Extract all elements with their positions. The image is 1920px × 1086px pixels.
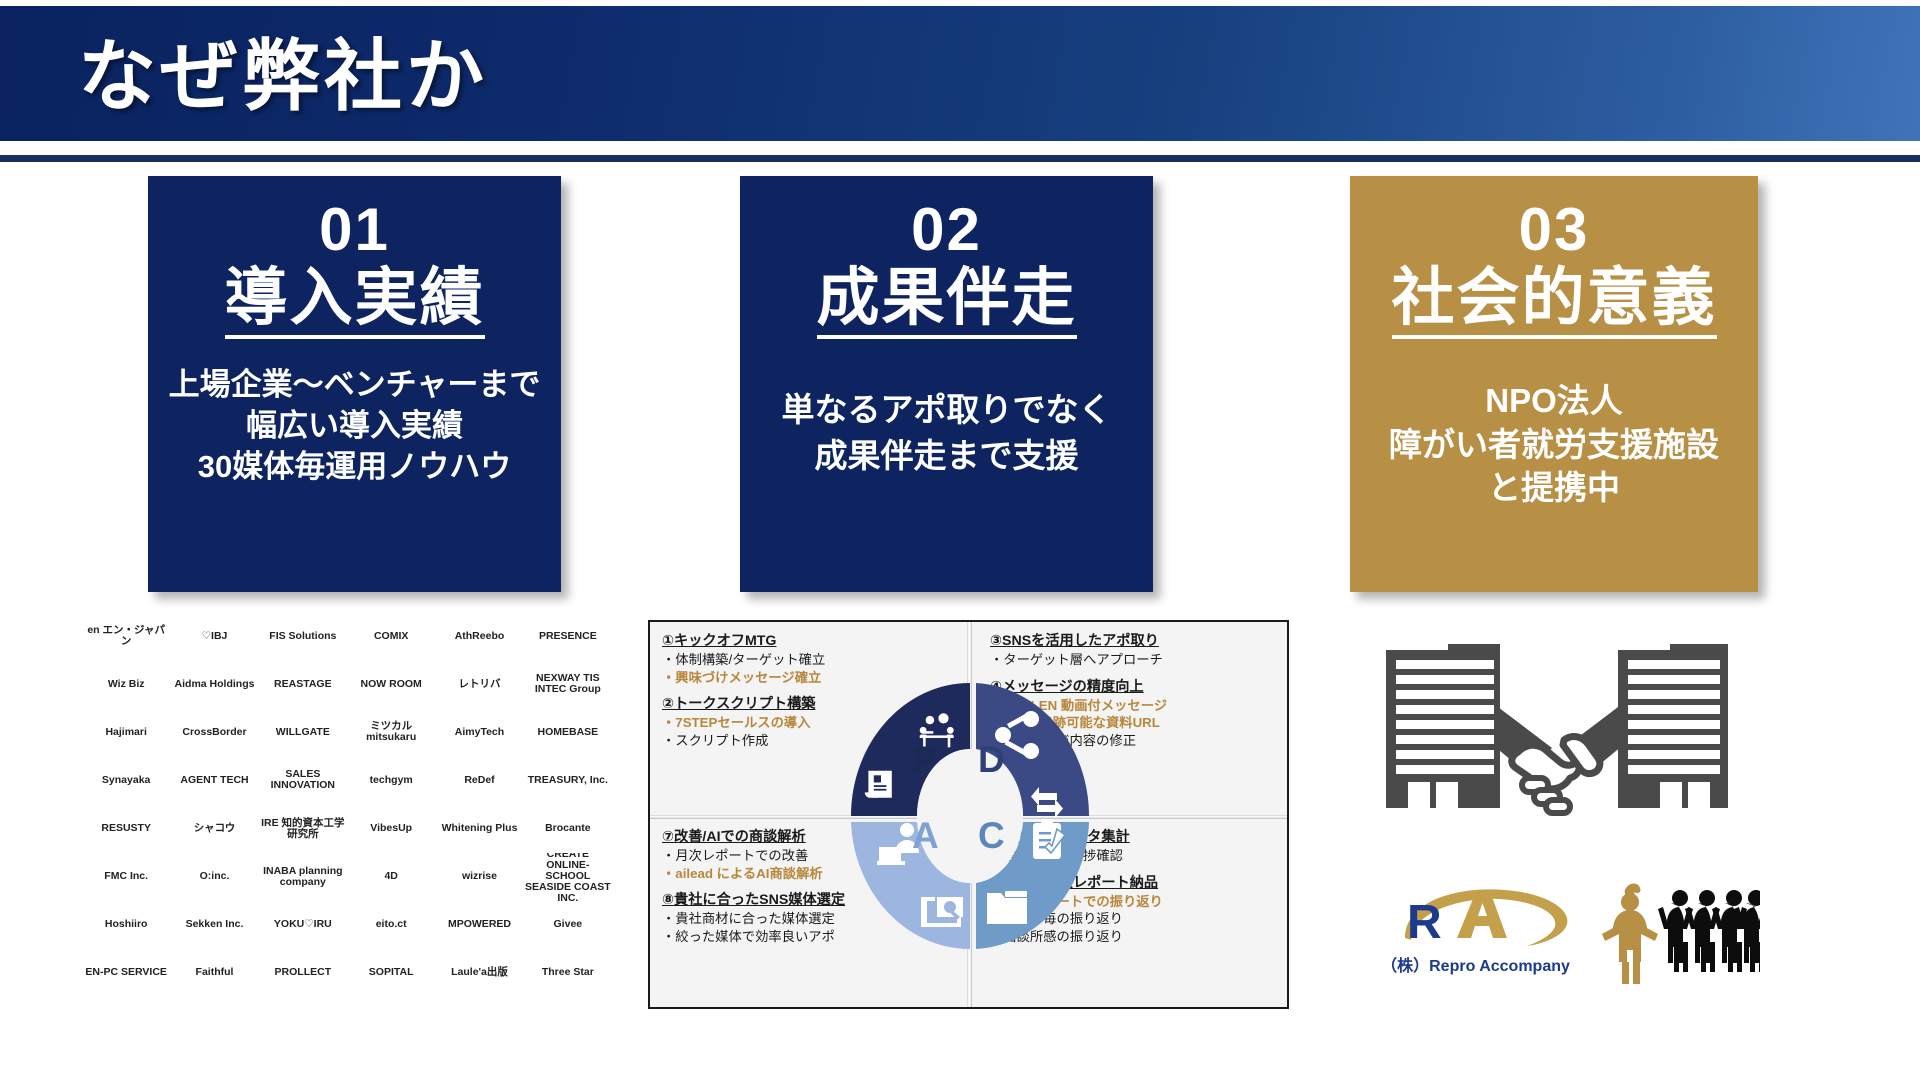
client-logo: Hoshiiro	[82, 901, 170, 949]
client-logo: ReDef	[435, 756, 523, 804]
client-logo: 4D	[347, 853, 435, 901]
company-name-caption: （株）Repro Accompany	[1368, 952, 1583, 976]
client-logo: ミツカル mitsukaru	[347, 708, 435, 756]
pdca-step-item: ・ターゲット層へアプローチ	[990, 651, 1280, 668]
client-logo: RESUSTY	[82, 805, 170, 853]
pdca-step-heading: ①キックオフMTG	[662, 632, 962, 650]
client-logo: Sekken Inc.	[170, 901, 258, 949]
client-logo: IRE 知的資本工学研究所	[259, 805, 347, 853]
client-logo: Three Star	[524, 949, 612, 997]
client-logo: NEXWAY TIS INTEC Group	[524, 660, 612, 708]
client-logo: Faithful	[170, 949, 258, 997]
client-logo: FIS Solutions	[259, 612, 347, 660]
client-logo: Givee	[524, 901, 612, 949]
page-title: なぜ弊社か	[78, 14, 488, 126]
card-title: 社会的意義	[1392, 264, 1717, 339]
pdca-letters: P D A C	[900, 737, 1040, 897]
card-title: 成果伴走	[817, 264, 1077, 339]
client-logo-grid: en エン・ジャパン♡IBJFIS SolutionsCOMIXAthReebo…	[82, 612, 612, 997]
pdca-letter-c: C	[978, 815, 1005, 857]
handshake-buildings-illustration	[1368, 612, 1748, 842]
pdca-panel: ①キックオフMTG・体制構築/ターゲット確立・興味づけメッセージ確立②トークスク…	[648, 620, 1289, 1009]
client-logo: REASTAGE	[259, 660, 347, 708]
client-logo: AGENT TECH	[170, 756, 258, 804]
client-logo: PRESENCE	[524, 612, 612, 660]
client-logo: CrossBorder	[170, 708, 258, 756]
client-logo: SOPITAL	[347, 949, 435, 997]
pdca-letter-a: A	[912, 815, 939, 857]
page-header: なぜ弊社か	[0, 6, 1920, 141]
client-logo: TREASURY, Inc.	[524, 756, 612, 804]
pdca-letter-p: P	[912, 739, 937, 781]
client-logo: EN-PC SERVICE	[82, 949, 170, 997]
client-logo: Wiz Biz	[82, 660, 170, 708]
client-logo: WILLGATE	[259, 708, 347, 756]
client-logo: wizrise	[435, 853, 523, 901]
card-body: NPO法人 障がい者就労支援施設 と提携中	[1350, 379, 1758, 510]
client-logo: Aidma Holdings	[170, 660, 258, 708]
client-logo: INABA planning company	[259, 853, 347, 901]
card-body: 単なるアポ取りでなく 成果伴走まで支援	[740, 387, 1153, 479]
client-logo: NOW ROOM	[347, 660, 435, 708]
card-number: 03	[1350, 200, 1758, 260]
client-logo: YOKU♡IRU	[259, 901, 347, 949]
card-title: 導入実績	[225, 264, 485, 339]
people-celebration-illustration	[1600, 880, 1760, 990]
feature-card-03: 03 社会的意義 NPO法人 障がい者就労支援施設 と提携中	[1350, 176, 1758, 592]
client-logo: ♡IBJ	[170, 612, 258, 660]
card-number: 02	[740, 200, 1153, 260]
feature-card-01: 01 導入実績 上場企業～ベンチャーまで 幅広い導入実績 30媒体毎運用ノウハウ	[148, 176, 561, 592]
client-logo: VibesUp	[347, 805, 435, 853]
client-logo: Hajimari	[82, 708, 170, 756]
card-number: 01	[148, 200, 561, 260]
client-logo: en エン・ジャパン	[82, 612, 170, 660]
client-logo: techgym	[347, 756, 435, 804]
client-logo: HOMEBASE	[524, 708, 612, 756]
client-logo: FMC Inc.	[82, 853, 170, 901]
client-logo: COMIX	[347, 612, 435, 660]
client-logo: O:inc.	[170, 853, 258, 901]
client-logo: Brocante	[524, 805, 612, 853]
client-logo: Laule'a出版	[435, 949, 523, 997]
pdca-step-group: ③SNSを活用したアポ取り・ターゲット層へアプローチ	[990, 632, 1280, 669]
document-scroll-icon	[865, 771, 892, 798]
client-logo: Whitening Plus	[435, 805, 523, 853]
header-divider	[0, 155, 1920, 162]
pdca-step-item: ・体制構築/ターゲット確立	[662, 651, 962, 668]
pdca-step-heading: ③SNSを活用したアポ取り	[990, 632, 1280, 650]
client-logo: CREATE ONLINE-SCHOOL SEASIDE COAST INC.	[524, 853, 612, 901]
client-logo: レトリバ	[435, 660, 523, 708]
client-logo: PROLLECT	[259, 949, 347, 997]
pdca-wheel: P D A C	[845, 677, 1095, 955]
client-logo: SALES INNOVATION	[259, 756, 347, 804]
feature-card-02: 02 成果伴走 単なるアポ取りでなく 成果伴走まで支援	[740, 176, 1153, 592]
pdca-letter-d: D	[978, 739, 1005, 781]
client-logo: Synayaka	[82, 756, 170, 804]
svg-text:R: R	[1407, 896, 1442, 949]
client-logo: シャコウ	[170, 805, 258, 853]
client-logo: eito.ct	[347, 901, 435, 949]
card-body: 上場企業～ベンチャーまで 幅広い導入実績 30媒体毎運用ノウハウ	[148, 365, 561, 488]
client-logo: AthReebo	[435, 612, 523, 660]
client-logo: AimyTech	[435, 708, 523, 756]
client-logo: MPOWERED	[435, 901, 523, 949]
